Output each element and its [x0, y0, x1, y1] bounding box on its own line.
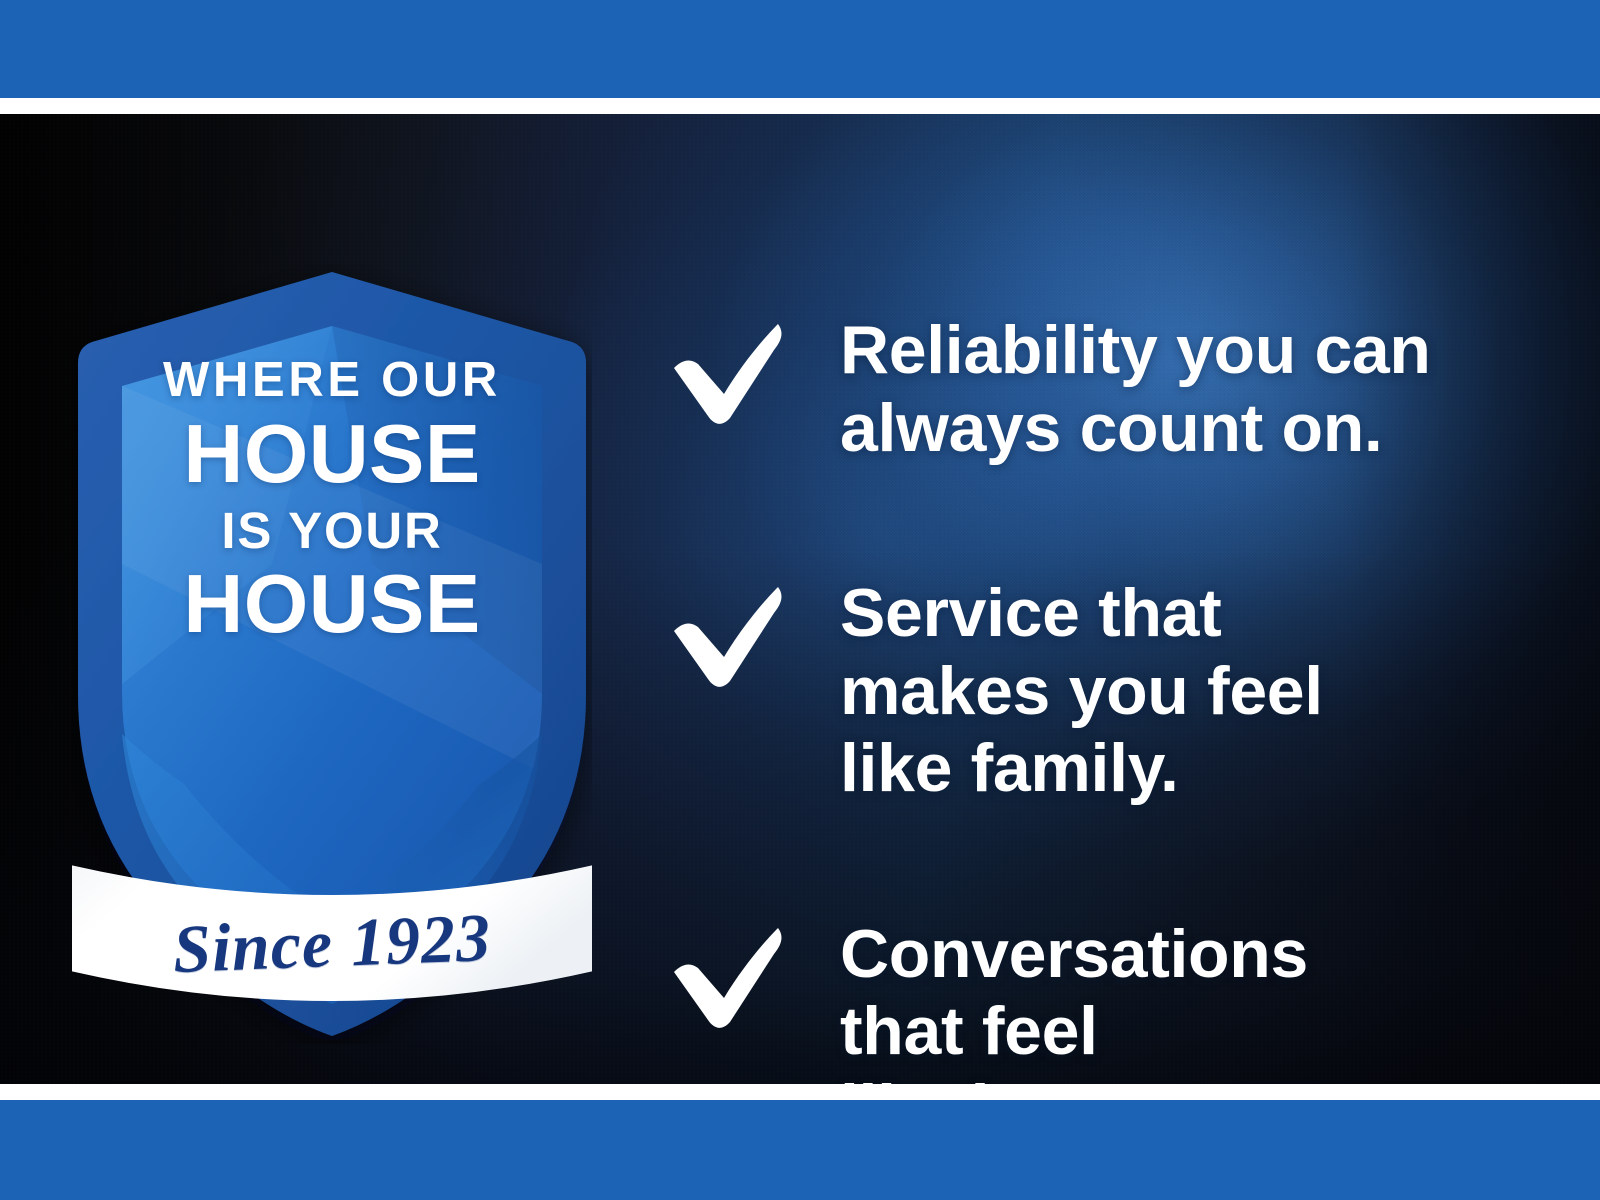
benefit-item-1: Reliability you can always count on.: [668, 312, 1548, 467]
checkmark-icon: [668, 318, 786, 428]
badge-tagline: WHERE OUR HOUSE IS YOUR HOUSE: [72, 356, 592, 645]
benefit-text-1: Reliability you can always count on.: [840, 312, 1548, 467]
badge-line-4: HOUSE: [72, 563, 592, 644]
bottom-brand-bar: [0, 1100, 1600, 1200]
badge-line-2: HOUSE: [72, 413, 592, 494]
benefit-text-3: Conversations that feel like home.: [840, 916, 1548, 1084]
benefit-item-2: Service that makes you feel like family.: [668, 575, 1548, 808]
badge-line-3: IS YOUR: [72, 505, 592, 556]
shield-badge: WHERE OUR HOUSE IS YOUR HOUSE Since 1923: [72, 264, 592, 1044]
promo-poster: WHERE OUR HOUSE IS YOUR HOUSE Since 1923…: [0, 0, 1600, 1200]
checkmark-icon: [668, 581, 786, 691]
benefit-text-2: Service that makes you feel like family.: [840, 575, 1548, 808]
top-brand-bar: [0, 0, 1600, 98]
badge-line-1: WHERE OUR: [72, 356, 592, 405]
top-divider: [0, 98, 1600, 114]
bottom-divider: [0, 1084, 1600, 1100]
benefit-item-3: Conversations that feel like home.: [668, 916, 1548, 1084]
benefits-list: Reliability you can always count on. Ser…: [668, 264, 1548, 1084]
main-stage: WHERE OUR HOUSE IS YOUR HOUSE Since 1923…: [0, 114, 1600, 1084]
checkmark-icon: [668, 922, 786, 1032]
